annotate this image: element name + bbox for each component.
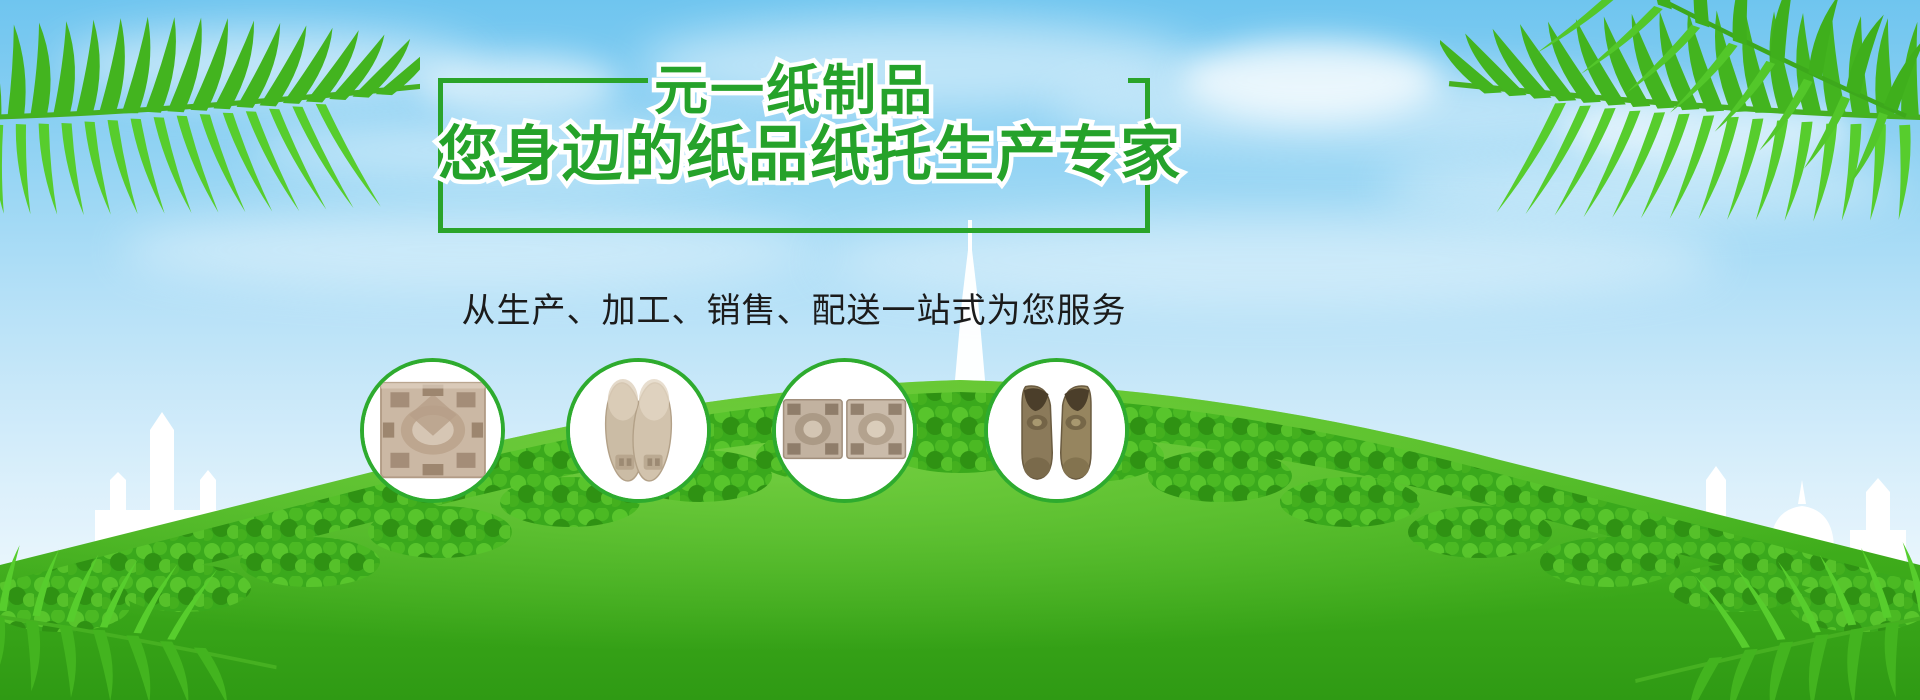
page-title-line-2: 您身边的纸品纸托生产专家	[438, 106, 1150, 193]
molded-pulp-double-tray-icon	[776, 362, 913, 499]
product-circle-molded-pulp-shoe-inserts[interactable]	[566, 358, 711, 503]
product-circle-molded-pulp-double-tray[interactable]	[772, 358, 917, 503]
molded-pulp-dark-shoe-trees-icon	[988, 362, 1125, 499]
page-subtitle: 从生产、加工、销售、配送一站式为您服务	[438, 283, 1150, 332]
molded-pulp-shoe-inserts-icon	[570, 362, 707, 499]
product-circle-molded-pulp-dark-shoe-trees[interactable]	[984, 358, 1129, 503]
product-circle-molded-pulp-square-tray[interactable]	[360, 358, 505, 503]
palm-frond-bottom-left	[0, 493, 291, 700]
headline-block: 元一纸制品 您身边的纸品纸托生产专家	[438, 78, 1150, 233]
promo-banner: 元一纸制品 您身边的纸品纸托生产专家 从生产、加工、销售、配送一站式为您服务	[0, 0, 1920, 700]
palm-frond-top-left	[0, 0, 420, 270]
molded-pulp-square-tray-icon	[364, 362, 501, 499]
